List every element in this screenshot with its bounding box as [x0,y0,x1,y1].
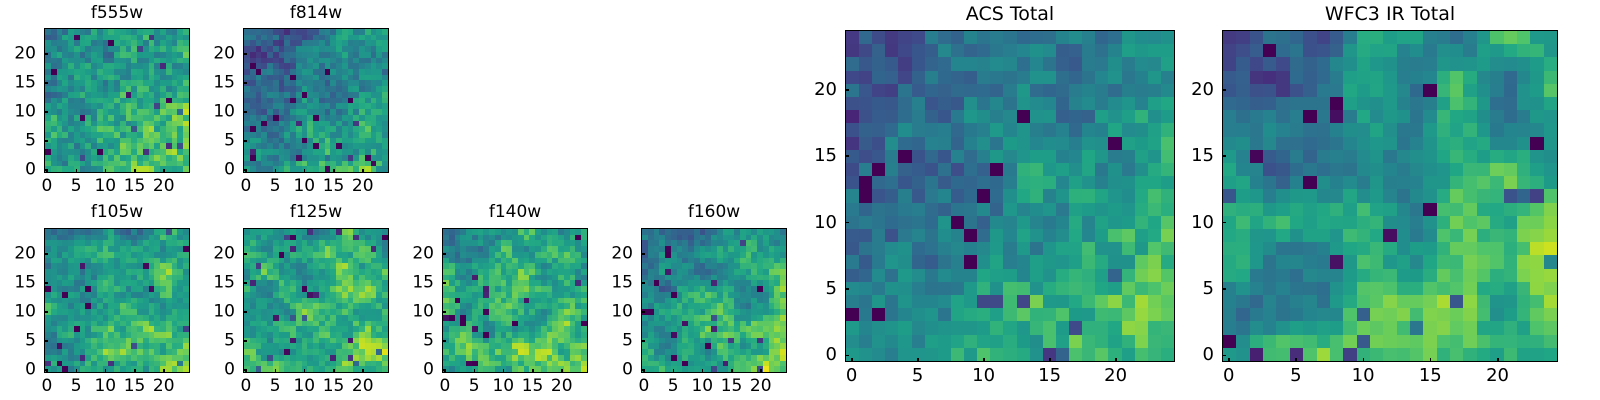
y-tick-label-acs_total-3: 15 [785,147,837,165]
x-tick-label-f140w-2: 10 [492,378,514,395]
y-tick-label-f125w-0: 0 [183,362,235,379]
x-tick-f140w-1 [474,369,476,373]
x-tick-label-f125w-4: 20 [352,378,374,395]
x-tick-label-f160w-3: 15 [721,378,743,395]
x-tick-label-acs_total-4: 20 [1104,367,1127,385]
y-tick-label-f105w-4: 20 [0,246,36,263]
x-tick-label-f160w-2: 10 [691,378,713,395]
y-tick-label-acs_total-1: 5 [785,280,837,298]
x-tick-label-f160w-0: 0 [638,378,649,395]
x-tick-f125w-1 [275,369,277,373]
x-tick-label-f105w-1: 5 [71,378,82,395]
y-tick-label-f160w-0: 0 [581,362,633,379]
x-tick-f160w-4 [760,369,762,373]
x-tick-label-wfc3_ir_total-0: 0 [1223,367,1234,385]
y-tick-label-f125w-3: 15 [183,275,235,292]
x-tick-f105w-1 [76,369,78,373]
y-tick-label-f125w-1: 5 [183,333,235,350]
y-tick-wfc3_ir_total-4 [1222,89,1226,91]
heatmap-image-f160w [642,229,786,372]
y-tick-f105w-4 [44,253,48,255]
y-tick-f140w-3 [442,282,446,284]
y-tick-acs_total-1 [845,288,849,290]
x-tick-f140w-3 [532,369,534,373]
x-tick-acs_total-0 [851,358,853,362]
x-tick-f125w-4 [362,369,364,373]
y-tick-f160w-4 [641,253,645,255]
y-tick-f105w-1 [44,340,48,342]
y-tick-label-wfc3_ir_total-2: 10 [1162,214,1214,232]
x-tick-label-acs_total-1: 5 [912,367,923,385]
heatmap-image-f140w [443,229,587,372]
y-tick-f105w-3 [44,282,48,284]
x-tick-label-f105w-3: 15 [124,378,146,395]
x-tick-label-wfc3_ir_total-4: 20 [1486,367,1509,385]
x-tick-wfc3_ir_total-3 [1430,358,1432,362]
y-tick-label-f140w-2: 10 [382,304,434,321]
y-tick-label-f140w-0: 0 [382,362,434,379]
y-tick-label-f105w-0: 0 [0,362,36,379]
x-tick-label-f160w-1: 5 [668,378,679,395]
x-tick-label-f125w-1: 5 [270,378,281,395]
x-tick-label-f140w-0: 0 [439,378,450,395]
x-tick-f140w-4 [561,369,563,373]
x-tick-f105w-4 [163,369,165,373]
y-tick-label-f140w-3: 15 [382,275,434,292]
y-tick-wfc3_ir_total-3 [1222,155,1226,157]
y-tick-f105w-2 [44,311,48,313]
x-tick-f140w-2 [503,369,505,373]
y-tick-acs_total-4 [845,89,849,91]
y-tick-f160w-3 [641,282,645,284]
y-tick-label-f125w-2: 10 [183,304,235,321]
x-tick-label-f105w-4: 20 [153,378,175,395]
y-tick-f125w-3 [243,282,247,284]
heatmap-image-f105w [45,229,189,372]
y-tick-label-f160w-2: 10 [581,304,633,321]
y-tick-label-acs_total-0: 0 [785,346,837,364]
y-tick-acs_total-2 [845,222,849,224]
y-tick-f140w-4 [442,253,446,255]
y-tick-label-f160w-1: 5 [581,333,633,350]
x-tick-label-f140w-4: 20 [551,378,573,395]
y-tick-f125w-4 [243,253,247,255]
x-tick-label-f125w-2: 10 [293,378,315,395]
y-tick-label-f105w-3: 15 [0,275,36,292]
x-tick-f160w-1 [673,369,675,373]
y-tick-label-wfc3_ir_total-1: 5 [1162,280,1214,298]
x-tick-f105w-3 [134,369,136,373]
x-tick-label-wfc3_ir_total-2: 10 [1352,367,1375,385]
x-tick-label-f140w-3: 15 [522,378,544,395]
y-tick-wfc3_ir_total-2 [1222,222,1226,224]
y-tick-f160w-2 [641,311,645,313]
y-tick-label-wfc3_ir_total-0: 0 [1162,346,1214,364]
x-tick-label-acs_total-3: 15 [1038,367,1061,385]
heatmap-axes-f105w [44,228,190,373]
y-tick-f140w-0 [442,369,446,371]
heatmap-axes-wfc3_ir_total [1222,30,1558,362]
x-tick-f125w-3 [333,369,335,373]
y-tick-wfc3_ir_total-1 [1222,288,1226,290]
y-tick-f125w-2 [243,311,247,313]
y-tick-label-wfc3_ir_total-4: 20 [1162,81,1214,99]
y-tick-f105w-0 [44,369,48,371]
x-tick-label-f125w-0: 0 [240,378,251,395]
y-tick-f160w-1 [641,340,645,342]
y-tick-label-acs_total-4: 20 [785,81,837,99]
x-tick-f160w-3 [731,369,733,373]
heatmap-axes-acs_total [845,30,1175,362]
y-tick-label-f140w-4: 20 [382,246,434,263]
panel-wfc3_ir_total: WFC3 IR Total0510152005101520 [1162,0,1600,400]
heatmap-image-f125w [244,229,388,372]
x-tick-acs_total-2 [983,358,985,362]
y-tick-f140w-2 [442,311,446,313]
y-tick-label-f140w-1: 5 [382,333,434,350]
y-tick-acs_total-0 [845,355,849,357]
x-tick-wfc3_ir_total-4 [1497,358,1499,362]
heatmap-image-wfc3_ir_total [1223,31,1557,361]
y-tick-label-wfc3_ir_total-3: 15 [1162,147,1214,165]
x-tick-label-acs_total-2: 10 [972,367,995,385]
x-tick-f105w-2 [105,369,107,373]
x-tick-wfc3_ir_total-1 [1295,358,1297,362]
y-tick-f125w-0 [243,369,247,371]
y-tick-label-f160w-4: 20 [581,246,633,263]
y-tick-label-f105w-1: 5 [0,333,36,350]
x-tick-label-f125w-3: 15 [323,378,345,395]
figure-canvas: f555w0510152005101520f814w05101520051015… [0,0,1600,400]
x-tick-acs_total-1 [917,358,919,362]
x-tick-label-wfc3_ir_total-3: 15 [1419,367,1442,385]
y-tick-f125w-1 [243,340,247,342]
panel-title-wfc3_ir_total: WFC3 IR Total [1162,5,1600,24]
x-tick-f125w-2 [304,369,306,373]
x-tick-f160w-2 [702,369,704,373]
heatmap-axes-f140w [442,228,588,373]
x-tick-label-wfc3_ir_total-1: 5 [1290,367,1301,385]
x-tick-acs_total-4 [1115,358,1117,362]
x-tick-label-f105w-0: 0 [41,378,52,395]
x-tick-acs_total-3 [1049,358,1051,362]
y-tick-label-f160w-3: 15 [581,275,633,292]
x-tick-label-f105w-2: 10 [94,378,116,395]
y-tick-f160w-0 [641,369,645,371]
x-tick-label-f160w-4: 20 [750,378,772,395]
y-tick-acs_total-3 [845,155,849,157]
y-tick-label-f105w-2: 10 [0,304,36,321]
heatmap-image-acs_total [846,31,1174,361]
x-tick-wfc3_ir_total-2 [1363,358,1365,362]
x-tick-label-acs_total-0: 0 [846,367,857,385]
x-tick-wfc3_ir_total-0 [1228,358,1230,362]
y-tick-wfc3_ir_total-0 [1222,355,1226,357]
heatmap-axes-f125w [243,228,389,373]
y-tick-label-acs_total-2: 10 [785,214,837,232]
heatmap-axes-f160w [641,228,787,373]
y-tick-label-f125w-4: 20 [183,246,235,263]
x-tick-label-f140w-1: 5 [469,378,480,395]
y-tick-f140w-1 [442,340,446,342]
